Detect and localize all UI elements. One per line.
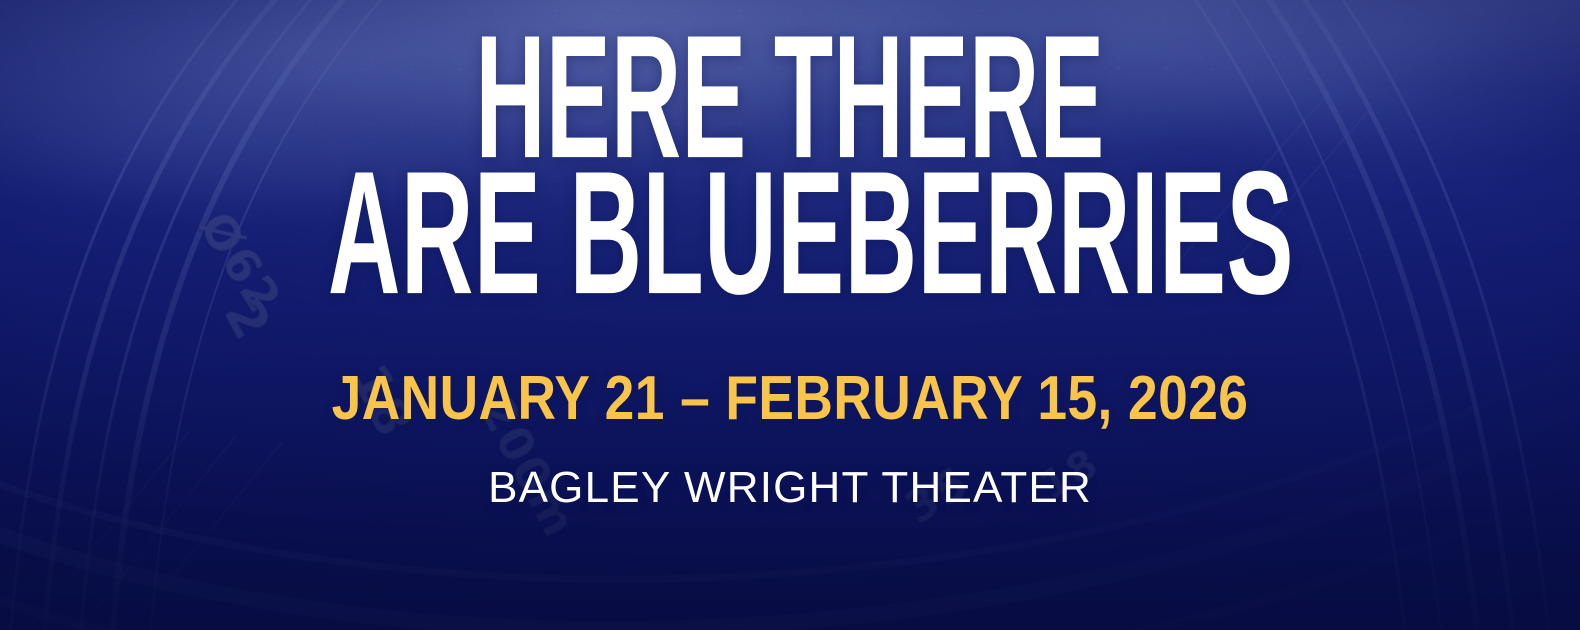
run-dates: JANUARY 21 – FEBRUARY 15, 2026 <box>332 368 1249 430</box>
event-banner: Ø62 2 18 200m 35 18 HERE THERE ARE BLUEB… <box>0 0 1580 630</box>
venue-name: BAGLEY WRIGHT THEATER <box>488 466 1092 510</box>
banner-content: HERE THERE ARE BLUEBERRIES JANUARY 21 – … <box>0 0 1580 630</box>
show-title-line-2: ARE BLUEBERRIES <box>328 158 1252 309</box>
show-title: HERE THERE ARE BLUEBERRIES <box>0 24 1580 308</box>
